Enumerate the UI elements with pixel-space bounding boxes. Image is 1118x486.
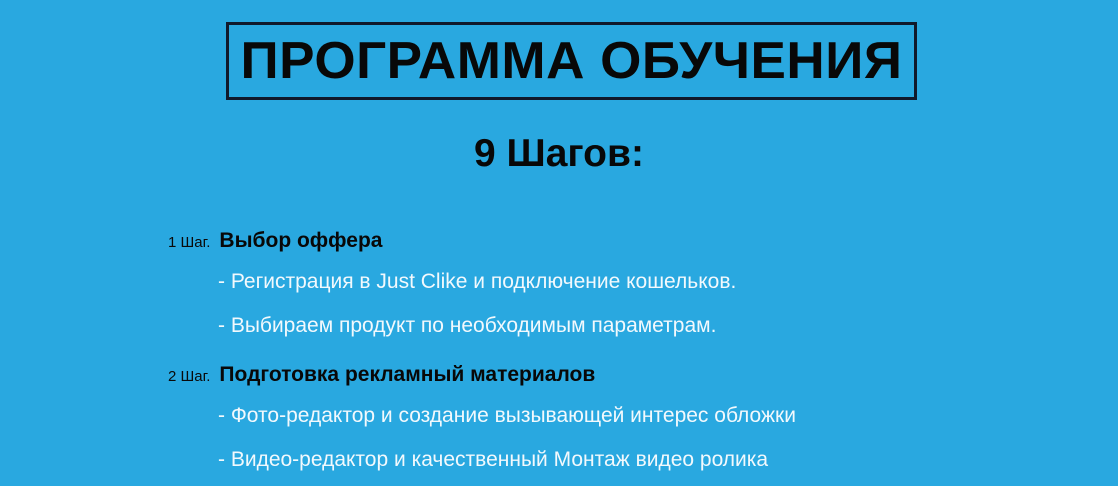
subtitle-steps-count: 9 Шагов: (0, 134, 1118, 173)
step-heading-2: 2 Шаг.Подготовка рекламный материалов (0, 356, 1118, 394)
step-index-label-1: 1 Шаг. (168, 234, 210, 251)
steps-list: 1 Шаг.Выбор оффера - Регистрация в Just … (0, 222, 1118, 482)
step-item: - Выбираем продукт по необходимым параме… (0, 304, 1118, 348)
page-title: ПРОГРАММА ОБУЧЕНИЯ (241, 35, 903, 87)
step-heading-1: 1 Шаг.Выбор оффера (0, 222, 1118, 260)
step-group-2: 2 Шаг.Подготовка рекламный материалов - … (0, 356, 1118, 482)
step-title-2: Подготовка рекламный материалов (219, 363, 595, 386)
step-index-label-2: 2 Шаг. (168, 368, 210, 385)
step-title-1: Выбор оффера (219, 229, 382, 252)
training-program-slide: ПРОГРАММА ОБУЧЕНИЯ 9 Шагов: 1 Шаг.Выбор … (0, 0, 1118, 486)
title-box: ПРОГРАММА ОБУЧЕНИЯ (226, 22, 917, 100)
step-item: - Фото-редактор и создание вызывающей ин… (0, 394, 1118, 438)
step-item: - Видео-редактор и качественный Монтаж в… (0, 438, 1118, 482)
step-group-1: 1 Шаг.Выбор оффера - Регистрация в Just … (0, 222, 1118, 348)
step-item: - Регистрация в Just Clike и подключение… (0, 260, 1118, 304)
